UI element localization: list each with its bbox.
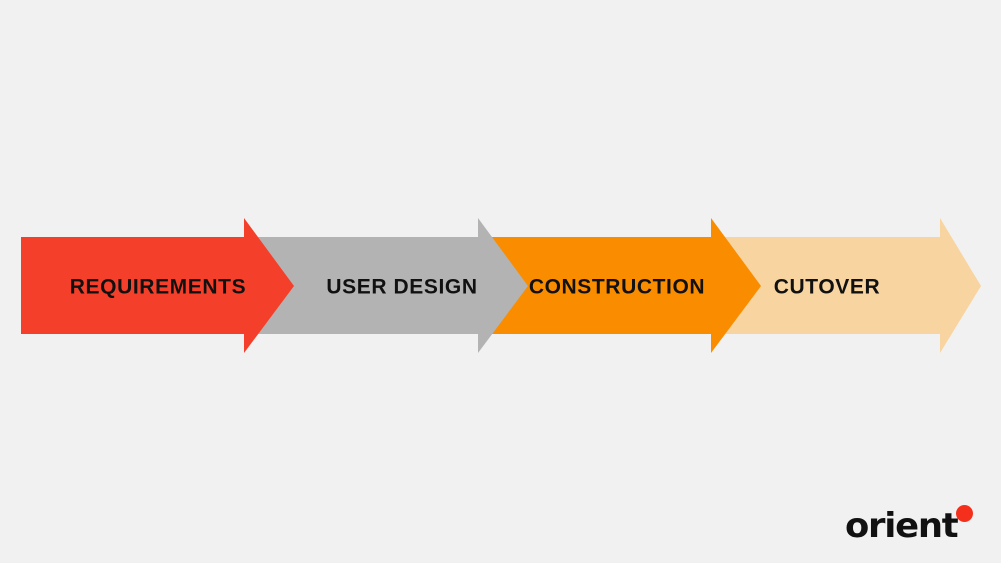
logo-wordmark: orient: [845, 509, 957, 543]
slide-canvas: CUTOVER CONSTRUCTION USER DESIGN REQUIRE…: [0, 0, 1001, 563]
stage-construction-label: CONSTRUCTION: [529, 276, 705, 299]
stage-user-design-label: USER DESIGN: [326, 276, 477, 299]
process-flow-svg: CUTOVER CONSTRUCTION USER DESIGN REQUIRE…: [0, 0, 1001, 563]
stage-requirements-label: REQUIREMENTS: [70, 276, 246, 299]
logo-dot-icon: [956, 505, 973, 522]
stage-cutover-label: CUTOVER: [774, 276, 881, 299]
process-flow-diagram: CUTOVER CONSTRUCTION USER DESIGN REQUIRE…: [0, 0, 1001, 563]
stage-requirements[interactable]: REQUIREMENTS: [21, 218, 294, 353]
brand-logo: orient: [845, 501, 973, 543]
